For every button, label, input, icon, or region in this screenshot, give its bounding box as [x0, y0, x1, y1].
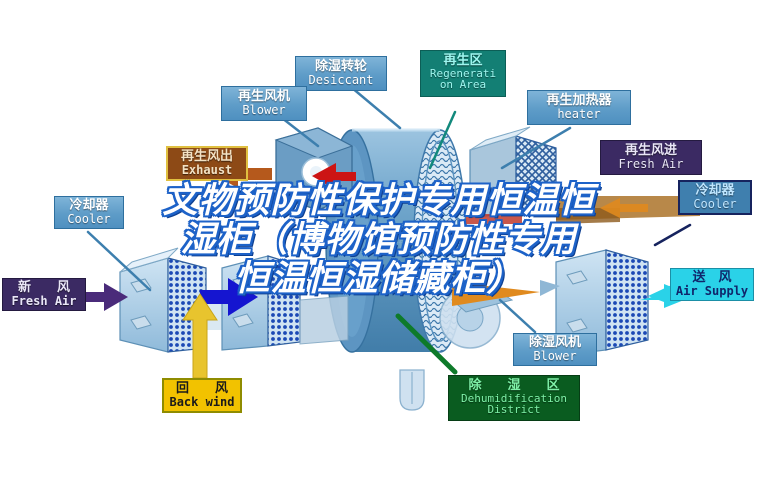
label-dehumidification-district-en-2: District [449, 404, 579, 416]
label-desiccant-rotor: 除湿转轮 Desiccant [295, 56, 387, 91]
label-regeneration-fresh-air-en: Fresh Air [601, 158, 701, 171]
label-regeneration-blower-cn: 再生风机 [222, 90, 306, 104]
label-dehumidification-blower-en: Blower [514, 350, 596, 363]
label-exhaust-cn: 再生风出 [168, 150, 246, 164]
label-cooler-right: 冷却器 Cooler [678, 180, 752, 215]
svg-text:xfs: xfs [392, 238, 408, 251]
label-cooler-right-cn: 冷却器 [680, 184, 750, 198]
label-air-supply: 送 风 Air Supply [670, 268, 754, 301]
label-regeneration-fresh-air: 再生风进 Fresh Air [600, 140, 702, 175]
diagram-canvas: xfs [0, 0, 757, 488]
label-regeneration-fresh-air-cn: 再生风进 [601, 144, 701, 158]
label-cooler-left: 冷却器 Cooler [54, 196, 124, 229]
label-desiccant-rotor-en: Desiccant [296, 74, 386, 87]
label-exhaust-en: Exhaust [168, 164, 246, 177]
leader-cooler-right [655, 225, 690, 245]
label-fresh-air-cn: 新 风 [3, 281, 85, 295]
label-air-supply-en: Air Supply [671, 285, 753, 298]
leader-dehum-blower [500, 300, 535, 332]
label-dehumidification-blower-cn: 除湿风机 [514, 336, 596, 350]
label-regeneration-area: 再生区 Regenerati on Area [420, 50, 506, 97]
label-regeneration-blower-en: Blower [222, 104, 306, 117]
label-fresh-air-en: Fresh Air [3, 295, 85, 308]
label-desiccant-rotor-cn: 除湿转轮 [296, 60, 386, 74]
label-dehumidification-district-cn: 除 湿 区 [449, 379, 579, 393]
label-cooler-right-en: Cooler [680, 198, 750, 211]
label-dehumidification-district: 除 湿 区 Dehumidification District [448, 375, 580, 421]
label-fresh-air: 新 风 Fresh Air [2, 278, 86, 311]
label-regeneration-area-en-2: on Area [421, 79, 505, 91]
label-back-wind-en: Back wind [164, 396, 240, 409]
label-back-wind-cn: 回 风 [164, 382, 240, 396]
label-cooler-left-cn: 冷却器 [55, 199, 123, 213]
label-regeneration-heater: 再生加热器 heater [527, 90, 631, 125]
label-exhaust: 再生风出 Exhaust [166, 146, 248, 181]
label-dehumidification-blower: 除湿风机 Blower [513, 333, 597, 366]
label-back-wind: 回 风 Back wind [162, 378, 242, 413]
label-regeneration-heater-en: heater [528, 108, 630, 121]
label-cooler-left-en: Cooler [55, 213, 123, 226]
label-regeneration-heater-cn: 再生加热器 [528, 94, 630, 108]
label-air-supply-cn: 送 风 [671, 271, 753, 285]
label-regeneration-blower: 再生风机 Blower [221, 86, 307, 121]
label-regeneration-area-cn: 再生区 [421, 54, 505, 68]
